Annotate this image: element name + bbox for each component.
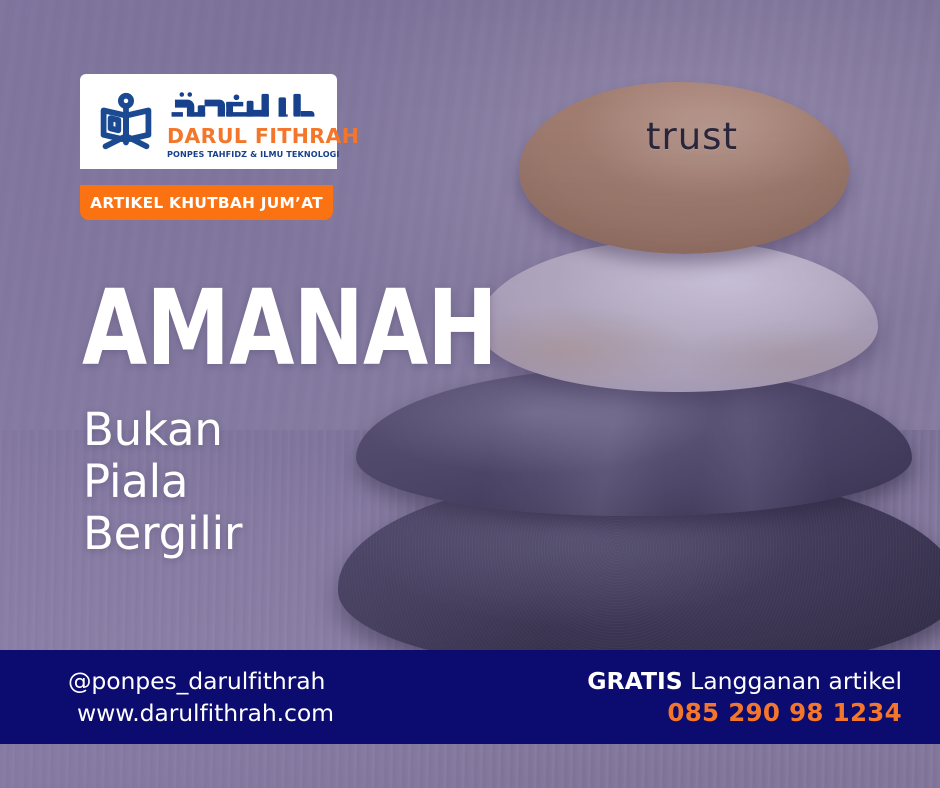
logo-row: DARUL FITHRAH PONPES TAHFIDZ & ILMU TEKN… (80, 74, 337, 169)
subtitle-line-1: Bukan (83, 404, 242, 456)
promo-headline: GRATIS Langganan artikel (587, 665, 902, 697)
logo-card: DARUL FITHRAH PONPES TAHFIDZ & ILMU TEKN… (80, 74, 337, 169)
article-category-badge: ARTIKEL KHUTBAH JUM’AT (80, 185, 333, 220)
website-url[interactable]: www.darulfithrah.com (68, 697, 334, 729)
footer-bar: @ponpes_darulfithrah www.darulfithrah.co… (0, 650, 940, 744)
page-subtitle: Bukan Piala Bergilir (83, 404, 242, 560)
social-handle[interactable]: @ponpes_darulfithrah (68, 665, 334, 697)
subtitle-line-2: Piala (83, 456, 242, 508)
top-stone-tan (519, 82, 849, 254)
page-title: AMANAH (82, 281, 497, 377)
promo-phone-number[interactable]: 085 290 98 1234 (587, 697, 902, 729)
subtitle-line-3: Bergilir (83, 508, 242, 560)
second-stone-cream (478, 240, 878, 392)
promo-rest-text: Langganan artikel (683, 667, 902, 695)
open-book-logo-icon (94, 90, 158, 154)
logo-wordmark: DARUL FITHRAH PONPES TAHFIDZ & ILMU TEKN… (167, 87, 359, 158)
arabic-logotype (167, 89, 315, 125)
footer-promo-block: GRATIS Langganan artikel 085 290 98 1234 (587, 665, 902, 729)
trust-engraving-text: trust (519, 115, 849, 158)
brand-name: DARUL FITHRAH (167, 126, 359, 147)
brand-tagline: PONPES TAHFIDZ & ILMU TEKNOLOGI (167, 150, 340, 158)
footer-contact-block: @ponpes_darulfithrah www.darulfithrah.co… (68, 665, 334, 729)
promo-gratis-word: GRATIS (587, 667, 682, 695)
poster-canvas: trust (0, 0, 940, 788)
